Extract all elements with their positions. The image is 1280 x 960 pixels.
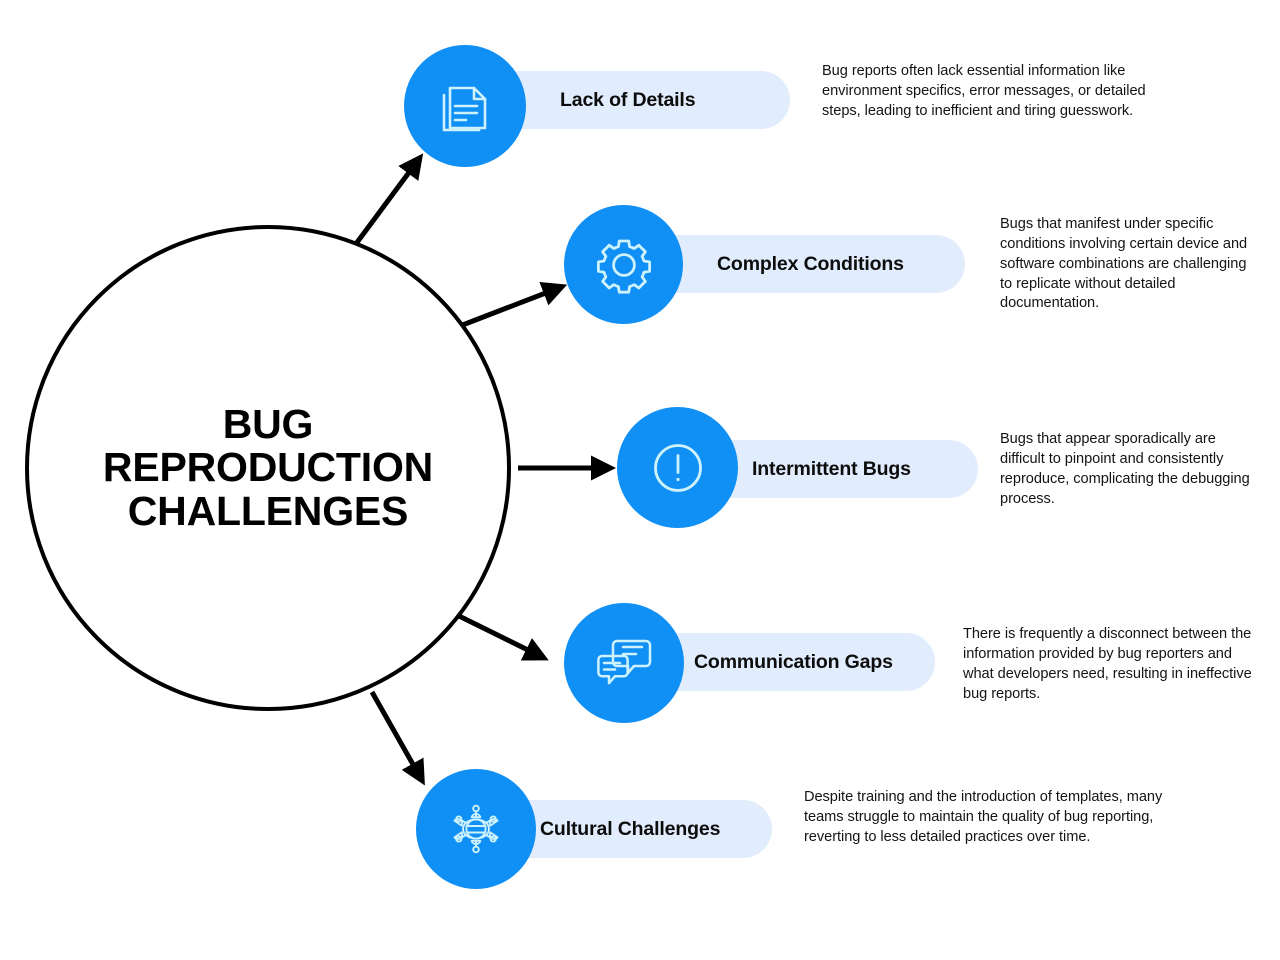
page-title: BUG REPRODUCTION CHALLENGES [103,403,433,533]
speech-bubbles-icon [595,636,653,690]
description-complex-conditions: Bugs that manifest under specific condit… [1000,215,1248,314]
pill-label-lack-of-details: Lack of Details [560,89,695,112]
description-lack-of-details: Bug reports often lack essential informa… [822,62,1170,122]
infographic-canvas: BUG REPRODUCTION CHALLENGES Lack of Deta… [0,0,1280,960]
central-node: BUG REPRODUCTION CHALLENGES [25,225,511,711]
pill-label-intermittent-bugs: Intermittent Bugs [752,458,911,481]
pill-label-cultural-challenges: Cultural Challenges [540,818,720,841]
icon-circle-complex-conditions[interactable] [564,205,683,324]
arrow-to-complex-conditions [460,289,556,326]
icon-circle-lack-of-details[interactable] [404,45,526,167]
pill-label-complex-conditions: Complex Conditions [717,253,904,276]
pill-label-communication-gaps: Communication Gaps [694,651,893,674]
description-communication-gaps: There is frequently a disconnect between… [963,625,1261,704]
globe-people-icon [445,798,507,860]
description-cultural-challenges: Despite training and the introduction of… [804,788,1194,848]
icon-circle-cultural-challenges[interactable] [416,769,536,889]
icon-circle-intermittent-bugs[interactable] [617,407,738,528]
document-icon [437,76,493,136]
arrow-to-communication-gaps [455,614,538,655]
description-intermittent-bugs: Bugs that appear sporadically are diffic… [1000,430,1262,509]
icon-circle-communication-gaps[interactable] [564,603,684,723]
gear-icon [595,236,653,294]
arrow-to-cultural-challenges [372,692,419,775]
exclamation-circle-icon [649,439,707,497]
